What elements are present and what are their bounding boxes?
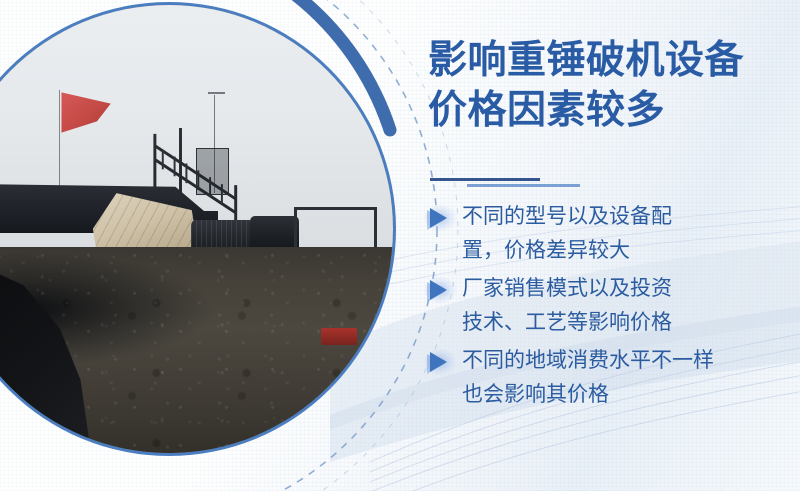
list-item: 不同的地域消费水平不一样 也会影响其价格 bbox=[420, 344, 800, 412]
promo-banner: 影响重锤破机设备 价格因素较多 不同的型号以及设备配 置，价格差异较大 厂家销售… bbox=[0, 0, 800, 491]
crusher-plant-photo bbox=[0, 5, 393, 453]
arrow-right-icon bbox=[428, 351, 454, 373]
bullet-text: 不同的型号以及设备配 置，价格差异较大 bbox=[420, 200, 800, 268]
text-panel: 影响重锤破机设备 价格因素较多 不同的型号以及设备配 置，价格差异较大 厂家销售… bbox=[420, 0, 800, 491]
divider-dark bbox=[430, 178, 540, 181]
arrow-right-icon bbox=[428, 207, 454, 229]
list-item: 厂家销售模式以及投资 技术、工艺等影响价格 bbox=[420, 272, 800, 340]
red-equipment-box bbox=[321, 328, 357, 346]
flag-pole bbox=[59, 90, 60, 189]
arrow-right-icon bbox=[428, 279, 454, 301]
hero-photo-circle bbox=[0, 5, 393, 453]
page-title: 影响重锤破机设备 价格因素较多 bbox=[428, 36, 800, 136]
platform-cage bbox=[196, 148, 229, 195]
mast-crossbar bbox=[208, 92, 226, 94]
divider-light bbox=[467, 184, 580, 187]
bullet-text: 厂家销售模式以及投资 技术、工艺等影响价格 bbox=[420, 272, 800, 340]
list-item: 不同的型号以及设备配 置，价格差异较大 bbox=[420, 200, 800, 268]
bullet-text: 不同的地域消费水平不一样 也会影响其价格 bbox=[420, 344, 800, 412]
bullet-list: 不同的型号以及设备配 置，价格差异较大 厂家销售模式以及投资 技术、工艺等影响价… bbox=[420, 200, 800, 416]
